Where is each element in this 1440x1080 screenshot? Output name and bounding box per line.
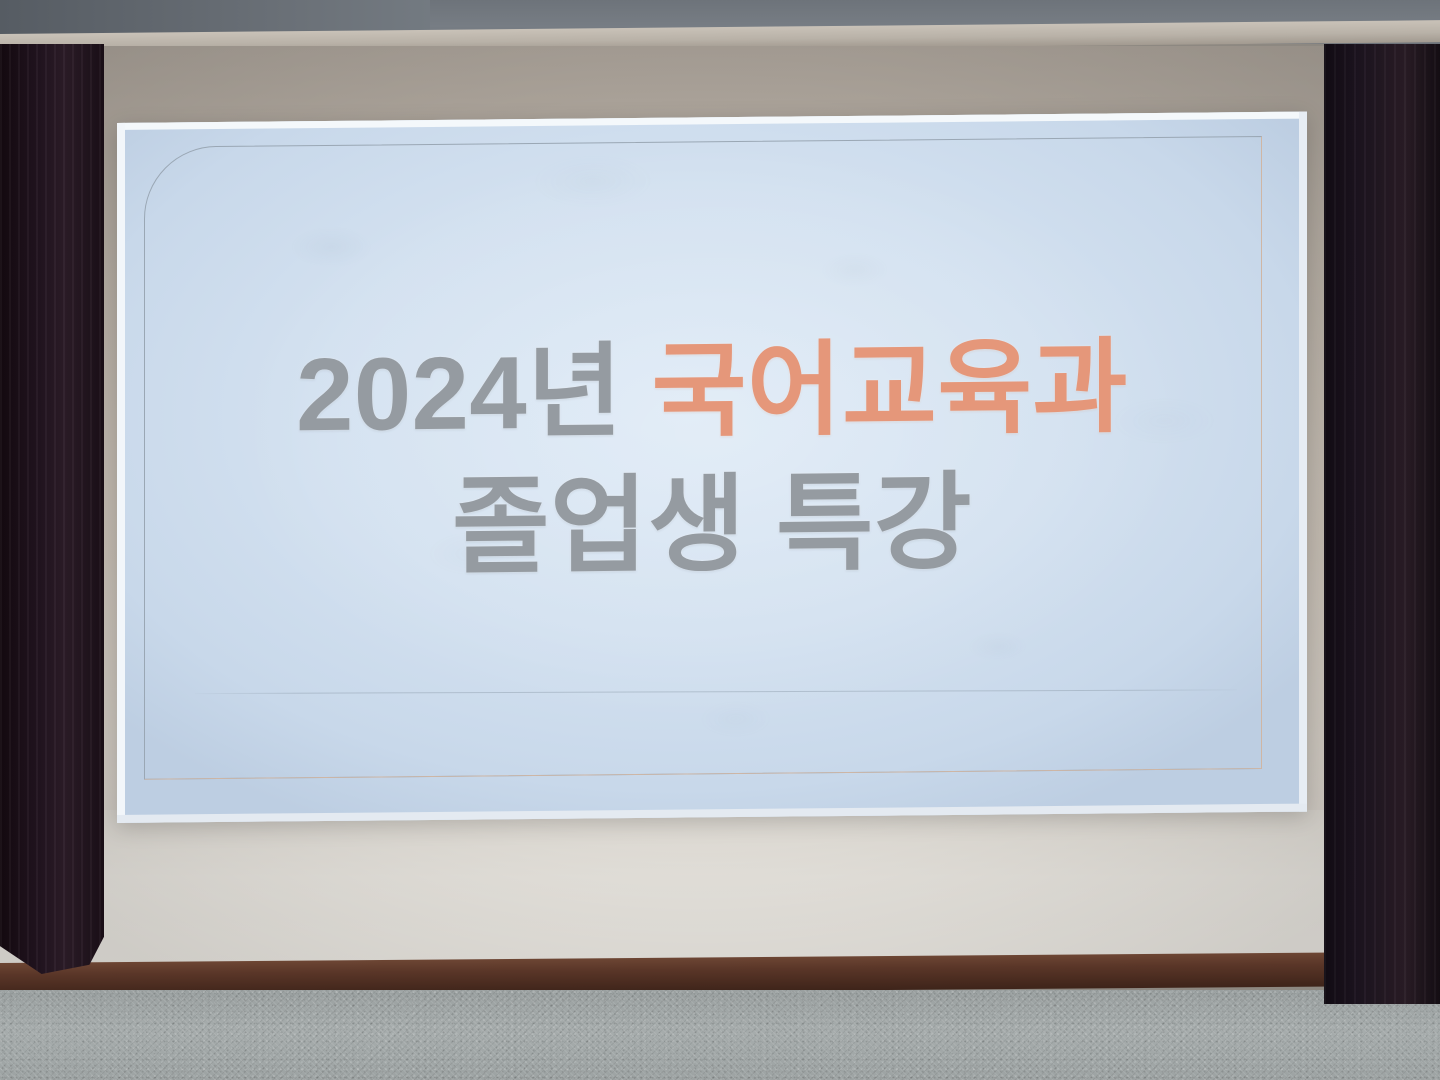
slide-title-line-2: 졸업생 특강 [117,460,1307,592]
slide-title-year: 2024년 [296,334,652,452]
slide-title-block: 2024년 국어교육과 졸업생 특강 [117,327,1307,593]
slide-title-line-1: 2024년 국어교육과 [117,327,1307,456]
slide-horizontal-divider [195,689,1237,694]
projection-screen: 2024년 국어교육과 졸업생 특강 [117,112,1307,823]
room-photo-scene: 2024년 국어교육과 졸업생 특강 [0,0,1440,1080]
presentation-slide: 2024년 국어교육과 졸업생 특강 [117,112,1307,823]
curtain-left [0,44,104,974]
slide-title-department: 국어교육과 [652,329,1128,449]
screen-bezel-right [1299,112,1307,812]
carpet-floor [0,990,1440,1080]
screen-bezel-left [117,123,125,823]
curtain-right [1324,44,1440,1004]
